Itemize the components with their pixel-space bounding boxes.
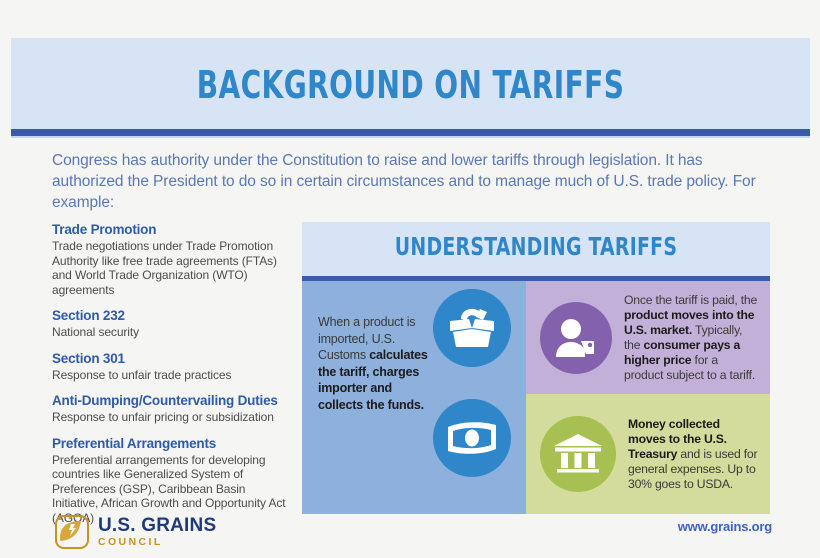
topic-description: Trade negotiations under Trade Promotion… xyxy=(52,239,290,297)
topic-title: Section 232 xyxy=(52,308,290,324)
quadrant-consumer-text: Once the tariff is paid, the product mov… xyxy=(624,293,760,383)
banknote-icon xyxy=(433,399,511,477)
list-item: Section 232 National security xyxy=(52,308,290,340)
list-item: Anti-Dumping/Countervailing Duties Respo… xyxy=(52,393,290,425)
consumer-text-plain-1: Once the tariff is paid, the xyxy=(624,293,757,307)
quadrant-customs-text: When a product is imported, U.S. Customs… xyxy=(318,314,430,413)
list-item: Preferential Arrangements Preferential a… xyxy=(52,436,290,526)
topic-title: Preferential Arrangements xyxy=(52,436,290,452)
treasury-building-icon xyxy=(540,416,616,492)
understanding-tariffs-panel: UNDERSTANDING TARIFFS When a product is … xyxy=(302,222,770,514)
panel-header: UNDERSTANDING TARIFFS xyxy=(302,222,770,276)
website-url[interactable]: www.grains.org xyxy=(678,519,772,534)
intro-paragraph: Congress has authority under the Constit… xyxy=(52,150,757,213)
panel-body: When a product is imported, U.S. Customs… xyxy=(302,281,770,514)
header-divider-rule xyxy=(11,129,810,136)
page-title: BACKGROUND ON TARIFFS xyxy=(83,64,738,106)
topic-description: Response to unfair pricing or subsidizat… xyxy=(52,410,290,425)
topic-title: Trade Promotion xyxy=(52,222,290,238)
open-box-icon xyxy=(433,289,511,367)
quadrant-treasury-text: Money collected moves to the U.S. Treasu… xyxy=(628,417,760,492)
topic-list: Trade Promotion Trade negotiations under… xyxy=(52,222,290,525)
panel-title: UNDERSTANDING TARIFFS xyxy=(339,232,732,261)
header-divider-shadow xyxy=(11,136,810,138)
logo-wordmark: U.S. GRAINS COUNCIL xyxy=(98,516,216,548)
header-band: BACKGROUND ON TARIFFS xyxy=(11,38,810,130)
list-item: Section 301 Response to unfair trade pra… xyxy=(52,351,290,383)
topic-title: Section 301 xyxy=(52,351,290,367)
grains-logo-mark-icon xyxy=(55,515,89,549)
us-grains-council-logo: U.S. GRAINS COUNCIL xyxy=(55,515,216,549)
list-item: Trade Promotion Trade negotiations under… xyxy=(52,222,290,297)
quadrant-treasury: Money collected moves to the U.S. Treasu… xyxy=(526,394,770,514)
logo-main-text: U.S. GRAINS xyxy=(98,516,216,535)
person-price-tag-icon xyxy=(540,302,612,374)
topic-title: Anti-Dumping/Countervailing Duties xyxy=(52,393,290,409)
quadrant-consumer: Once the tariff is paid, the product mov… xyxy=(526,281,770,394)
topic-description: Response to unfair trade practices xyxy=(52,368,290,383)
quadrant-customs: When a product is imported, U.S. Customs… xyxy=(302,281,526,514)
topic-description: National security xyxy=(52,325,290,340)
quadrant-right-column: Once the tariff is paid, the product mov… xyxy=(526,281,770,514)
infographic-page: BACKGROUND ON TARIFFS Congress has autho… xyxy=(0,0,820,558)
logo-sub-text: COUNCIL xyxy=(98,537,216,548)
